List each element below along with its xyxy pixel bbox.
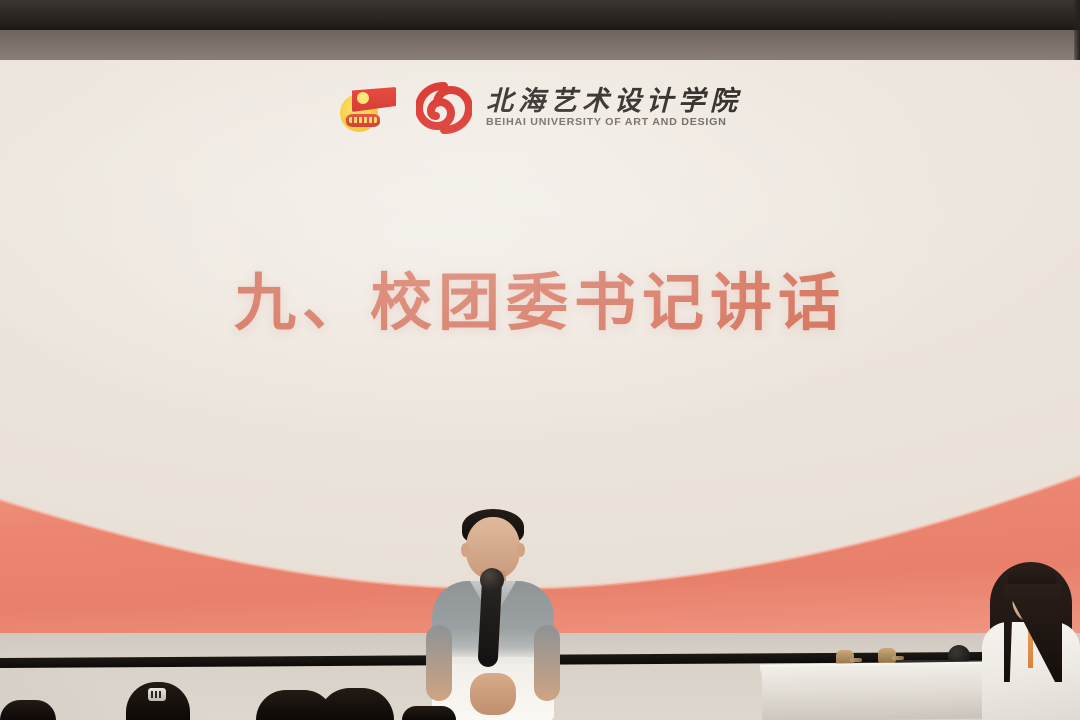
- slide-logo-lockup: 北海艺术设计学院 BEIHAI UNIVERSITY OF ART AND DE…: [0, 82, 1080, 134]
- head-table: [762, 664, 991, 720]
- wall-upper-band: [0, 30, 1080, 64]
- speaker-arm-right: [534, 625, 560, 701]
- presentation-photo: 北海艺术设计学院 BEIHAI UNIVERSITY OF ART AND DE…: [0, 0, 1080, 720]
- speaker-ear-right: [516, 543, 525, 557]
- speaker-figure: [418, 505, 568, 720]
- speaker-hands: [470, 673, 516, 715]
- university-name-cn: 北海艺术设计学院: [486, 88, 742, 115]
- speaker-ear-left: [461, 543, 470, 557]
- university-name-en: BEIHAI UNIVERSITY OF ART AND DESIGN: [486, 116, 727, 128]
- university-name-block: 北海艺术设计学院 BEIHAI UNIVERSITY OF ART AND DE…: [486, 88, 742, 128]
- hair-clip-icon: [148, 688, 166, 701]
- communist-youth-league-emblem-icon: [338, 84, 402, 132]
- speaker-arm-left: [426, 625, 452, 701]
- host-figure: [982, 562, 1080, 720]
- audience-head-5: [402, 706, 456, 720]
- audience-head-4: [0, 700, 56, 720]
- slide-headline: 九、校团委书记讲话: [0, 252, 1080, 342]
- ceiling-dark-band: [0, 0, 1080, 33]
- beihai-spiral-logo-icon: [416, 82, 472, 134]
